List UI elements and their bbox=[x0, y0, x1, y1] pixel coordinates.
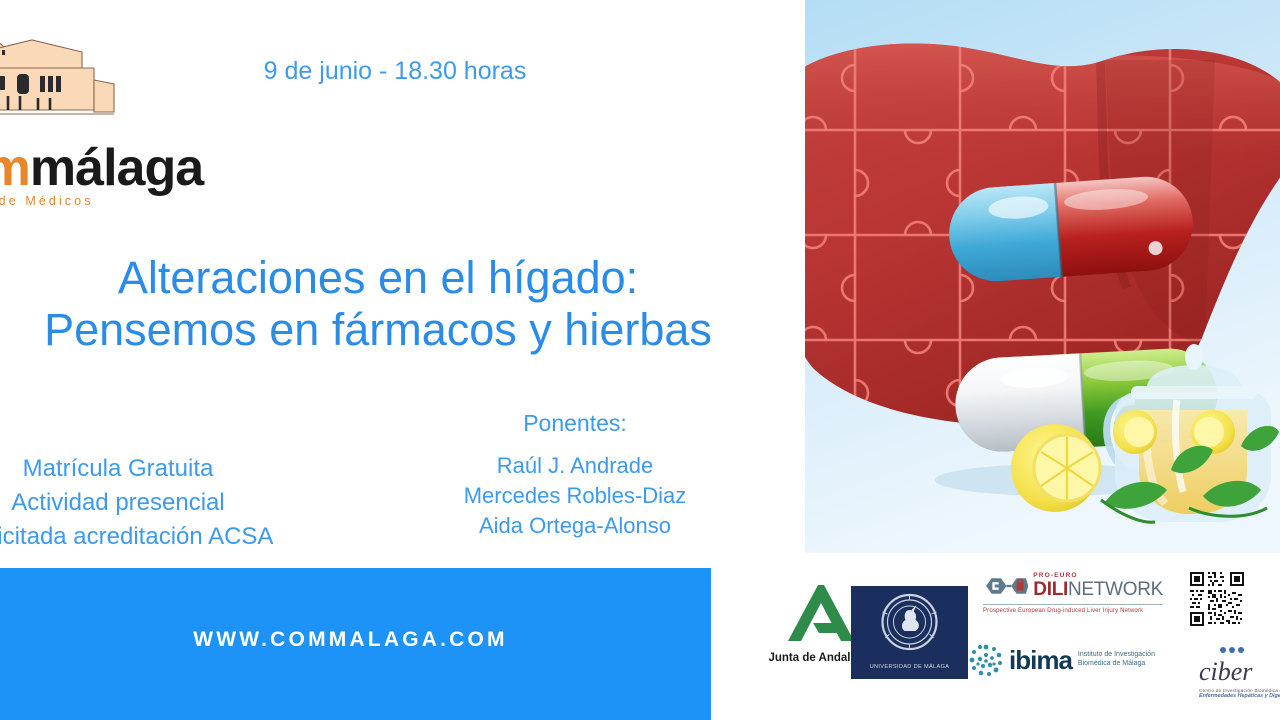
network-word: NETWORK bbox=[1068, 579, 1163, 600]
info-acreditacion: Solicitada acreditación ACSA bbox=[0, 520, 288, 554]
ciber-dots-icon bbox=[1219, 646, 1245, 654]
logo-ibima: ibima Instituto de Investigación Biomédi… bbox=[969, 643, 1194, 677]
event-info: Matrícula Gratuita Actividad presencial … bbox=[0, 452, 288, 554]
commalaga-logo: commálaga Colegio de Médicos bbox=[0, 22, 292, 197]
capsule-blue-red bbox=[946, 174, 1196, 285]
ciber-word: ciber bbox=[1199, 659, 1280, 685]
uma-label: UNIVERSIDAD DE MÁLAGA bbox=[851, 664, 968, 670]
sponsor-logos: Junta de Andalucía UNIVERSIDAD bbox=[711, 553, 1280, 720]
speakers-section: Ponentes: Raúl J. Andrade Mercedes Roble… bbox=[435, 408, 715, 541]
website-banner: WWW.COMMALAGA.COM bbox=[0, 568, 711, 720]
qr-code-icon[interactable] bbox=[1188, 570, 1246, 628]
speaker-name: Raúl J. Andrade bbox=[435, 451, 715, 481]
info-actividad: Actividad presencial bbox=[0, 486, 288, 520]
ibima-tag-line1: Instituto de Investigación bbox=[1078, 651, 1155, 660]
event-poster: commálaga Colegio de Médicos 9 de junio … bbox=[0, 0, 1280, 720]
logo-word-malaga: málaga bbox=[30, 139, 203, 197]
logo-universidad-malaga: UNIVERSIDAD DE MÁLAGA bbox=[851, 586, 968, 679]
dili-word: DILI bbox=[1033, 579, 1068, 600]
junta-andalucia-logo-icon bbox=[785, 583, 857, 645]
artwork-panel bbox=[805, 0, 1280, 553]
ibima-word: ibima bbox=[1009, 647, 1072, 673]
logo-dili-network: PRO-EURO DILINETWORK Prospective Europea… bbox=[983, 571, 1163, 614]
ciber-tag-line2: Enfermedades Hepáticas y Digestivas bbox=[1199, 693, 1280, 699]
logo-word-com: com bbox=[0, 139, 30, 197]
logo-wordmark: commálaga bbox=[0, 142, 203, 194]
website-url[interactable]: WWW.COMMALAGA.COM bbox=[193, 628, 508, 652]
event-title: Alteraciones en el hígado: Pensemos en f… bbox=[0, 252, 798, 356]
logo-subtitle: Colegio de Médicos bbox=[0, 194, 94, 208]
universidad-malaga-crest-icon bbox=[851, 586, 968, 658]
ibima-tag-line2: Biomédica de Málaga bbox=[1078, 660, 1155, 669]
event-date-time: 9 de junio - 18.30 horas bbox=[0, 57, 790, 86]
dili-tagline: Prospective European Drug-induced Liver … bbox=[983, 604, 1163, 614]
speaker-name: Aida Ortega-Alonso bbox=[435, 511, 715, 541]
ibima-logo-icon bbox=[969, 643, 1003, 677]
event-title-line2: Pensemos en fármacos y hierbas bbox=[0, 304, 798, 356]
speakers-heading: Ponentes: bbox=[435, 408, 715, 439]
logo-ciber: ciber Centro de Investigación Biomédica … bbox=[1199, 641, 1280, 699]
dili-network-logo-icon bbox=[983, 571, 1028, 601]
liver-puzzle-icon bbox=[805, 0, 1280, 553]
info-matricula: Matrícula Gratuita bbox=[0, 452, 288, 486]
speaker-name: Mercedes Robles-Diaz bbox=[435, 481, 715, 511]
event-title-line1: Alteraciones en el hígado: bbox=[0, 252, 798, 304]
